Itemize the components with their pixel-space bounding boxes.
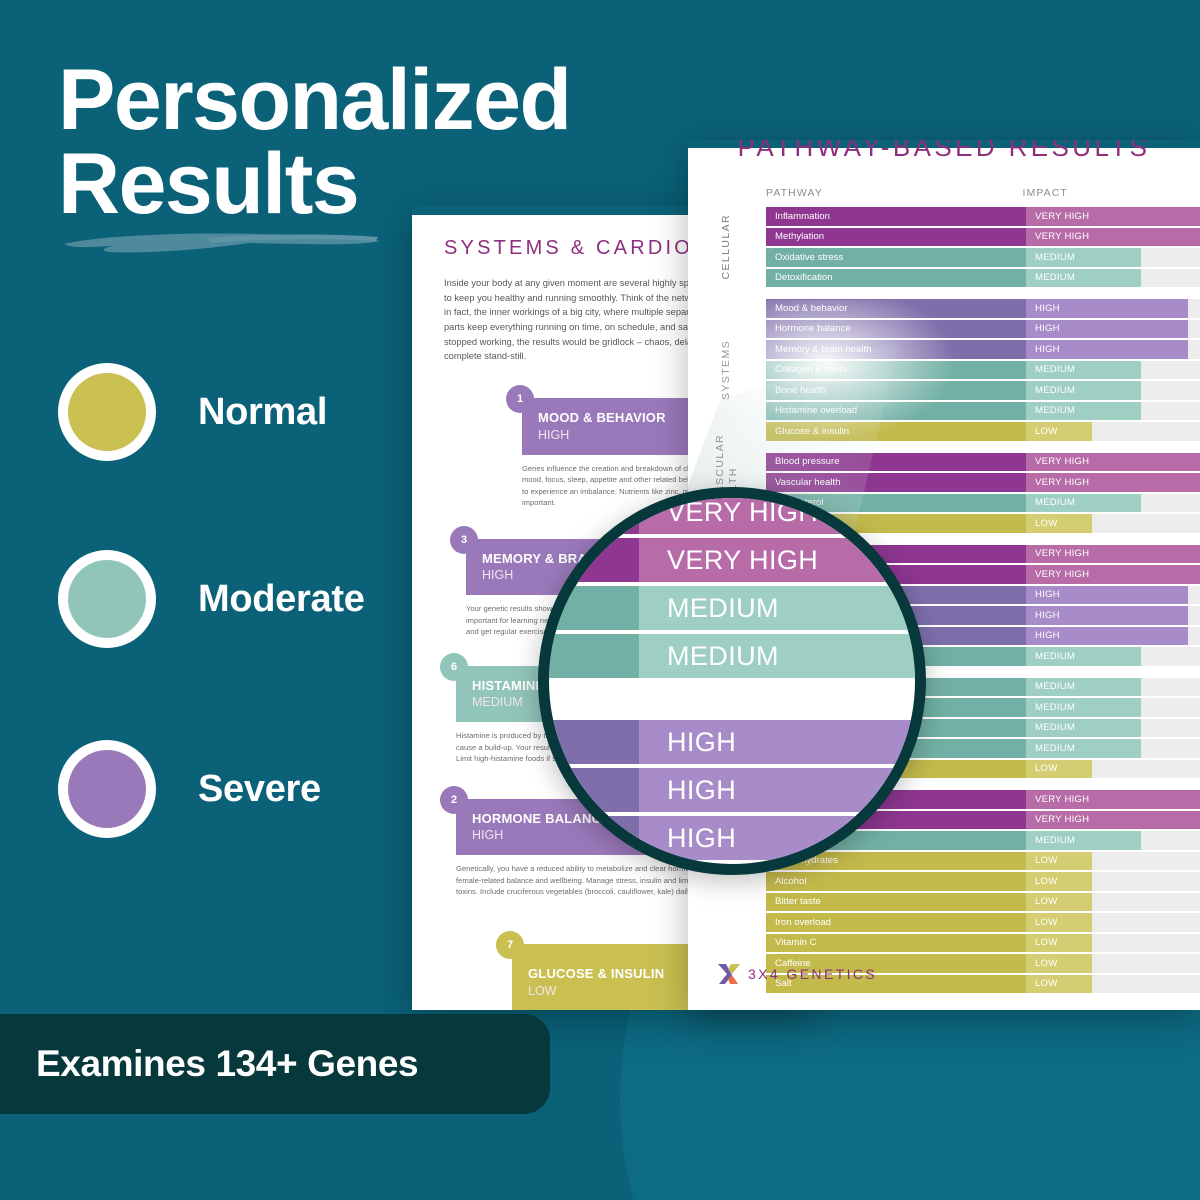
legend-dot-severe (68, 750, 146, 828)
legend-dot-moderate (68, 560, 146, 638)
impact-value: HIGH (1026, 320, 1188, 339)
impact-value: LOW (1026, 872, 1092, 891)
impact-track: LOW (1026, 893, 1200, 912)
magnified-pathway-name (538, 538, 639, 582)
impact-track: VERY HIGH (1026, 207, 1200, 226)
impact-value: MEDIUM (1026, 381, 1141, 400)
impact-track: MEDIUM (1026, 494, 1200, 513)
impact-value: HIGH (1026, 606, 1188, 625)
magnifier-lens: VERY HIGHVERY HIGHMEDIUMMEDIUMHIGHHIGHHI… (538, 487, 926, 875)
impact-value: MEDIUM (1026, 248, 1141, 267)
impact-value: LOW (1026, 514, 1092, 533)
impact-track: LOW (1026, 872, 1200, 891)
impact-track: LOW (1026, 913, 1200, 932)
genes-count-suffix: Genes (297, 1043, 418, 1084)
impact-value: MEDIUM (1026, 698, 1141, 717)
document-right-title: PATHWAY-BASED RESULTS (688, 140, 1200, 163)
impact-track: MEDIUM (1026, 248, 1200, 267)
pathway-group-label: SYSTEMS (688, 299, 766, 441)
pathway-name: Collagen & joints (766, 361, 1026, 380)
magnified-pathway-name (538, 768, 639, 812)
impact-track: MEDIUM (1026, 678, 1200, 697)
pathway-name: Vascular health (766, 473, 1026, 492)
impact-value: LOW (1026, 893, 1092, 912)
pathway-name: Oxidative stress (766, 248, 1026, 267)
impact-value: HIGH (1026, 299, 1188, 318)
magnified-pathway-name (538, 720, 639, 764)
impact-track: MEDIUM (1026, 381, 1200, 400)
pathway-name: Blood pressure (766, 453, 1026, 472)
pathway-group-label: CELLULAR (688, 207, 766, 287)
magnified-pathway-name (538, 586, 639, 630)
impact-track: HIGH (1026, 340, 1200, 359)
pathway-row: Collagen & jointsMEDIUM (766, 361, 1200, 380)
impact-track: HIGH (1026, 299, 1200, 318)
pathway-row: Iron overloadLOW (766, 913, 1200, 932)
magnified-pathway-row: MEDIUM (538, 586, 926, 630)
legend-ring-normal (58, 363, 156, 461)
impact-value: VERY HIGH (1026, 811, 1200, 830)
genes-count-prefix: Examines (36, 1043, 215, 1084)
magnified-pathway-row: VERY HIGH (538, 538, 926, 582)
legend-item-severe: Severe (58, 740, 321, 838)
impact-value: LOW (1026, 422, 1092, 441)
pathway-row: Histamine overloadMEDIUM (766, 402, 1200, 421)
impact-track: HIGH (1026, 606, 1200, 625)
impact-track: VERY HIGH (1026, 565, 1200, 584)
impact-value: MEDIUM (1026, 739, 1141, 758)
impact-track: MEDIUM (1026, 698, 1200, 717)
page-title: Personalized Results (58, 58, 571, 227)
pathway-name: Iron overload (766, 913, 1026, 932)
impact-track: MEDIUM (1026, 739, 1200, 758)
impact-track: MEDIUM (1026, 269, 1200, 288)
pathway-name: Detoxification (766, 269, 1026, 288)
pathway-name: Glucose & insulin (766, 422, 1026, 441)
magnified-impact-value: HIGH (639, 720, 926, 764)
impact-value: LOW (1026, 954, 1092, 973)
pathway-row: Glucose & insulinLOW (766, 422, 1200, 441)
impact-value: VERY HIGH (1026, 545, 1200, 564)
pathway-name: Bone health (766, 381, 1026, 400)
pathway-row: Bitter tasteLOW (766, 893, 1200, 912)
impact-track: LOW (1026, 975, 1200, 994)
pathway-row: Oxidative stressMEDIUM (766, 248, 1200, 267)
pathway-name: Bitter taste (766, 893, 1026, 912)
impact-value: MEDIUM (1026, 402, 1141, 421)
result-card-number: 3 (450, 526, 478, 554)
pathway-row: Vitamin CLOW (766, 934, 1200, 953)
pathway-name: Alcohol (766, 872, 1026, 891)
pathway-name: Hormone balance (766, 320, 1026, 339)
result-card-number: 7 (496, 931, 524, 959)
magnified-pathway-row: HIGH (538, 720, 926, 764)
pathway-row: Hormone balanceHIGH (766, 320, 1200, 339)
impact-track: HIGH (1026, 586, 1200, 605)
legend-ring-moderate (58, 550, 156, 648)
column-header-pathway: PATHWAY (766, 187, 1022, 199)
impact-value: HIGH (1026, 340, 1188, 359)
pathway-name: Memory & brain health (766, 340, 1026, 359)
pathway-group: CELLULARInflammationVERY HIGHMethylation… (688, 207, 1200, 287)
impact-value: MEDIUM (1026, 831, 1141, 850)
title-underline-swoosh (58, 228, 386, 258)
genes-count-banner: Examines 134+ Genes (0, 1014, 550, 1114)
impact-value: LOW (1026, 760, 1092, 779)
legend-label-normal: Normal (198, 391, 327, 434)
impact-value: VERY HIGH (1026, 228, 1200, 247)
impact-value: MEDIUM (1026, 269, 1141, 288)
pathway-name: Histamine overload (766, 402, 1026, 421)
impact-track: VERY HIGH (1026, 473, 1200, 492)
x-logo-icon (716, 962, 742, 986)
magnified-impact-value: HIGH (639, 816, 926, 860)
pathway-row: Blood pressureVERY HIGH (766, 453, 1200, 472)
impact-value: HIGH (1026, 627, 1188, 646)
magnified-impact-value: VERY HIGH (639, 538, 926, 582)
table-header: PATHWAY IMPACT (688, 187, 1200, 199)
magnifier-content: VERY HIGHVERY HIGHMEDIUMMEDIUMHIGHHIGHHI… (538, 490, 926, 864)
magnified-row-gap (538, 682, 926, 720)
impact-track: LOW (1026, 954, 1200, 973)
pathway-row: Memory & brain healthHIGH (766, 340, 1200, 359)
impact-track: VERY HIGH (1026, 545, 1200, 564)
impact-value: VERY HIGH (1026, 207, 1200, 226)
impact-value: VERY HIGH (1026, 453, 1200, 472)
impact-value: HIGH (1026, 586, 1188, 605)
impact-track: LOW (1026, 934, 1200, 953)
legend-ring-severe (58, 740, 156, 838)
pathway-row: Bone healthMEDIUM (766, 381, 1200, 400)
page-title-line1: Personalized (58, 52, 571, 148)
magnified-impact-value: MEDIUM (639, 586, 926, 630)
impact-track: VERY HIGH (1026, 228, 1200, 247)
impact-track: MEDIUM (1026, 402, 1200, 421)
impact-track: HIGH (1026, 627, 1200, 646)
impact-value: VERY HIGH (1026, 565, 1200, 584)
pathway-row: DetoxificationMEDIUM (766, 269, 1200, 288)
magnified-impact-value: MEDIUM (639, 634, 926, 678)
impact-track: VERY HIGH (1026, 453, 1200, 472)
result-card-number: 2 (440, 786, 468, 814)
magnified-pathway-name (538, 816, 639, 860)
impact-track: LOW (1026, 422, 1200, 441)
pathway-name: Methylation (766, 228, 1026, 247)
magnified-pathway-name (538, 634, 639, 678)
impact-track: MEDIUM (1026, 831, 1200, 850)
impact-track: MEDIUM (1026, 647, 1200, 666)
impact-value: VERY HIGH (1026, 473, 1200, 492)
impact-track: HIGH (1026, 320, 1200, 339)
pathway-group: SYSTEMSMood & behaviorHIGHHormone balanc… (688, 299, 1200, 441)
pathway-name: Inflammation (766, 207, 1026, 226)
impact-value: VERY HIGH (1026, 790, 1200, 809)
impact-track: LOW (1026, 760, 1200, 779)
impact-track: LOW (1026, 852, 1200, 871)
legend-label-severe: Severe (198, 768, 321, 811)
magnified-pathway-row: HIGH (538, 768, 926, 812)
impact-value: LOW (1026, 975, 1092, 994)
pathway-row: MethylationVERY HIGH (766, 228, 1200, 247)
legend-label-moderate: Moderate (198, 578, 365, 621)
impact-track: LOW (1026, 514, 1200, 533)
pathway-name: Vitamin C (766, 934, 1026, 953)
pathway-row: Vascular healthVERY HIGH (766, 473, 1200, 492)
impact-track: VERY HIGH (1026, 790, 1200, 809)
magnified-impact-value: HIGH (639, 768, 926, 812)
impact-track: VERY HIGH (1026, 811, 1200, 830)
impact-value: LOW (1026, 913, 1092, 932)
magnified-pathway-row: HIGH (538, 816, 926, 860)
impact-value: LOW (1026, 934, 1092, 953)
magnified-pathway-row: MEDIUM (538, 634, 926, 678)
impact-value: MEDIUM (1026, 678, 1141, 697)
pathway-row: InflammationVERY HIGH (766, 207, 1200, 226)
brand-logo: 3X4 GENETICS (716, 962, 877, 986)
impact-track: MEDIUM (1026, 361, 1200, 380)
result-card-number: 6 (440, 653, 468, 681)
genes-count-text: Examines 134+ Genes (36, 1043, 418, 1085)
impact-track: MEDIUM (1026, 719, 1200, 738)
column-header-impact: IMPACT (1022, 187, 1200, 199)
legend-item-moderate: Moderate (58, 550, 365, 648)
page-title-line2: Results (58, 142, 571, 226)
impact-value: MEDIUM (1026, 719, 1141, 738)
impact-value: LOW (1026, 852, 1092, 871)
genes-count-number: 134+ (215, 1043, 297, 1084)
impact-value: MEDIUM (1026, 647, 1141, 666)
impact-value: MEDIUM (1026, 361, 1141, 380)
pathway-row: Mood & behaviorHIGH (766, 299, 1200, 318)
brand-wordmark: 3X4 GENETICS (748, 966, 877, 982)
pathway-row: AlcoholLOW (766, 872, 1200, 891)
result-card-number: 1 (506, 385, 534, 413)
impact-value: MEDIUM (1026, 494, 1141, 513)
pathway-name: Mood & behavior (766, 299, 1026, 318)
legend-dot-normal (68, 373, 146, 451)
legend-item-normal: Normal (58, 363, 327, 461)
